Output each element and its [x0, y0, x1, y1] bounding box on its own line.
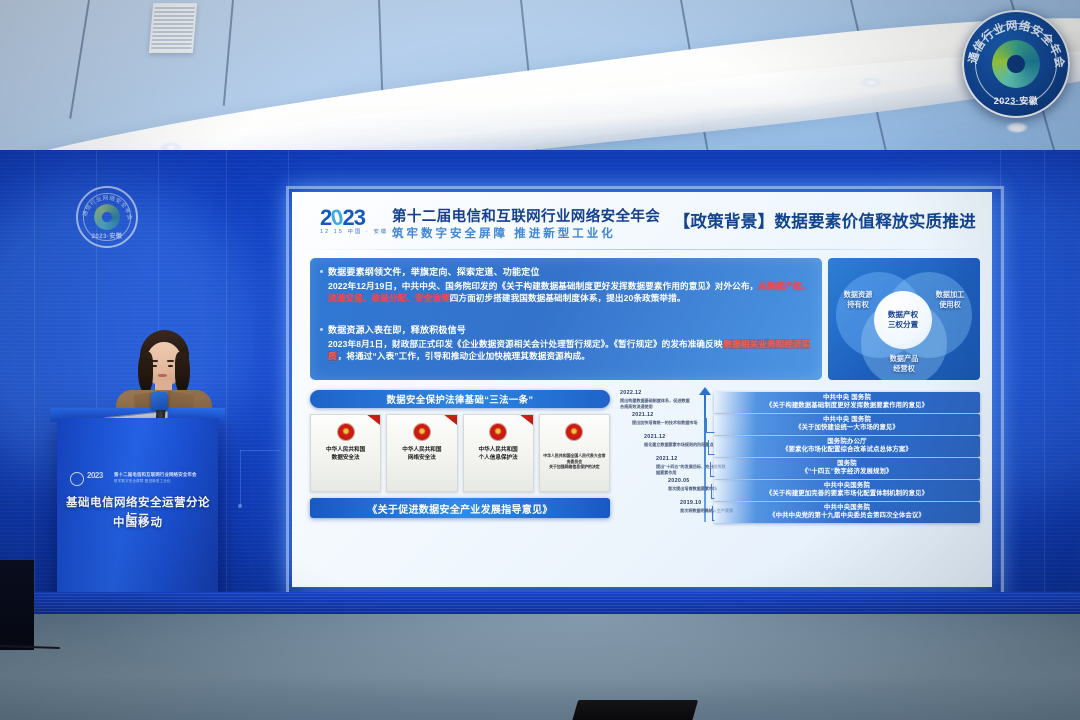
timeline-row: 2019.10 首次将数据明确纳入生产要素 中共中央国务院 《中共中央党的第十九… — [618, 502, 980, 523]
timeline-row: 2021.12 细化建立数据要素市场规则的阶段重点 国务院办公厅 《要素化市场化… — [618, 436, 980, 457]
timeline-document: 《关于加快建设统一大市场的意见》 — [795, 424, 899, 432]
law-book-item: 中华人民共和国全国人民代表大会常务委员会关于加强网络信息保护的决定 — [539, 414, 610, 492]
svg-text:通信行业网络安全年会: 通信行业网络安全年会 — [966, 18, 1067, 69]
timeline-policy-box: 中共中央国务院 《中共中央党的第十九届中央委员会第四次全体会议》 — [714, 502, 980, 523]
timeline-document: 《要素化市场化配置综合改革试点总体方案》 — [782, 446, 912, 454]
venn-center: 数据产权 三权分置 — [874, 291, 932, 349]
law-book-item: 中华人民共和国数据安全法 — [310, 414, 381, 492]
law-book-title: 中华人民共和国网络安全法 — [399, 447, 444, 462]
logo-arc-label: 通信行业网络安全年会 — [80, 194, 134, 221]
venn-label-right: 数据加工使用权 — [926, 290, 974, 309]
national-emblem-icon — [566, 424, 582, 440]
bullet-body: 2023年8月1日，财政部正式印发《企业数据资源相关会计处理暂行规定》。《暂行规… — [320, 338, 812, 363]
timeline-policy-box: 中共中央 国务院 《关于加快建设统一大市场的意见》 — [714, 414, 980, 435]
bullet-body-pre: 2022年12月19日，中共中央、国务院印发的《关于构建数据基础制度更好发挥数据… — [328, 281, 758, 291]
svg-text:通信行业网络安全年会: 通信行业网络安全年会 — [80, 194, 134, 221]
conference-logo-wall: 通信行业网络安全年会 2023·安徽 — [76, 186, 138, 248]
presentation-slide: 2023 12 15 中国 · 安徽 第十二届电信和互联网行业网络安全年会 筑牢… — [292, 192, 992, 587]
podium-logo-icon — [70, 472, 84, 486]
venn-label-bottom: 数据产品经营权 — [880, 354, 928, 373]
timeline-policy-box: 国务院办公厅 《要素化市场化配置综合改革试点总体方案》 — [714, 436, 980, 457]
slide-event-tagline: 筑牢数字安全屏障 推进新型工业化 — [392, 225, 616, 241]
timeline-description: 提出构建数据基础制度体系，促进数据合规高效流通使用 — [620, 398, 692, 409]
timeline-row: 2020.05 首次提出培育数据要素市场 中共中央国务院 《关于构建更加完善的要… — [618, 480, 980, 501]
timeline-document: 《关于构建数据基础制度更好发挥数据要素作用的意见》 — [766, 402, 928, 410]
bullet-dot-icon — [320, 270, 323, 273]
bullet-dot-icon — [320, 328, 323, 331]
law-book-list: 中华人民共和国数据安全法 中华人民共和国网络安全法 中华人民共和国个人信息保护法… — [310, 414, 610, 492]
hvac-vent-icon — [149, 3, 197, 53]
national-emblem-icon — [414, 424, 430, 440]
backstage-shadow — [0, 560, 34, 650]
slide-header: 2023 12 15 中国 · 安徽 第十二届电信和互联网行业网络安全年会 筑牢… — [292, 192, 992, 250]
header-divider — [292, 249, 992, 250]
speaker-hair-side — [138, 352, 153, 394]
slide-year-sublabel: 12 15 中国 · 安徽 — [320, 228, 388, 235]
law-guideline-banner: 《关于促进数据安全产业发展指导意见》 — [310, 498, 610, 518]
downlight-icon — [1006, 122, 1028, 133]
venn-center-line1: 数据产权 — [888, 310, 918, 320]
law-section-title: 数据安全保护法律基础“三法一条” — [386, 392, 533, 406]
bullet-body: 2022年12月19日，中共中央、国务院印发的《关于构建数据基础制度更好发挥数据… — [320, 280, 812, 305]
law-guideline-title: 《关于促进数据安全产业发展指导意见》 — [367, 501, 552, 516]
conference-logo-watermark: 通信行业网络安全年会 2023·安徽 — [962, 10, 1070, 118]
timeline-policy-box: 中共中央 国务院 《关于构建数据基础制度更好发挥数据要素作用的意见》 — [714, 392, 980, 413]
venn-label-left: 数据资源持有权 — [834, 290, 882, 309]
timeline-description: 细化建立数据要素市场规则的阶段重点 — [644, 442, 716, 448]
law-book-title: 中华人民共和国数据安全法 — [323, 447, 368, 462]
stage-floor-sheen — [0, 614, 1080, 720]
podium-event-title: 第十二届电信和互联网行业网络安全年会 — [114, 472, 197, 478]
bullet-body-post: ，将通过“入表”工作，引导和推动企业加快梳理其数据资源构成。 — [338, 351, 590, 361]
podium-event-tagline: 筑牢数字安全屏障 推进新型工业化 — [114, 479, 171, 484]
podium-signage: 2023 第十二届电信和互联网行业网络安全年会 筑牢数字安全屏障 推进新型工业化… — [62, 470, 214, 534]
timeline-date: 2021.12 — [656, 456, 678, 462]
timeline-policy-box: 国务院 《“十四五”数字经济发展规划》 — [714, 458, 980, 479]
timeline-document: 《关于构建更加完善的要素市场化配置体制机制的意见》 — [766, 490, 928, 498]
bullet-item: 数据资源入表在即，释放积极信号 2023年8月1日，财政部正式印发《企业数据资源… — [320, 324, 812, 363]
venn-diagram: 数据资源持有权 数据加工使用权 数据产品经营权 数据产权 三权分置 — [828, 258, 980, 380]
timeline-date: 2020.05 — [668, 478, 690, 484]
timeline-description: 提出加快培育统一的技术和数据市场 — [632, 420, 704, 426]
bullet-body-post: 四方面初步搭建我国数据基础制度体系，提出20条政策举措。 — [450, 293, 686, 303]
timeline-date: 2021.12 — [644, 434, 666, 440]
venn-center-line2: 三权分置 — [888, 320, 918, 330]
microphone-icon — [151, 392, 168, 410]
ceiling-seam — [223, 0, 234, 106]
timeline-date: 2021.12 — [632, 412, 654, 418]
timeline-date: 2022.12 — [620, 390, 642, 396]
timeline-policy-box: 中共中央国务院 《关于构建更加完善的要素市场化配置体制机制的意见》 — [714, 480, 980, 501]
timeline-row: 2021.12 提出加快培育统一的技术和数据市场 中共中央 国务院 《关于加快建… — [618, 414, 980, 435]
logo-year-label: 2023·安徽 — [962, 94, 1070, 107]
downlight-icon — [860, 77, 882, 88]
podium-organization: 中国移动 — [62, 514, 214, 530]
speaker-mouth — [158, 374, 167, 377]
logo-year-label: 2023·安徽 — [76, 231, 138, 240]
timeline-row: 2022.12 提出构建数据基础制度体系，促进数据合规高效流通使用 中共中央 国… — [618, 392, 980, 413]
law-book-title: 中华人民共和国全国人民代表大会常务委员会关于加强网络信息保护的决定 — [540, 453, 609, 470]
national-emblem-icon — [338, 424, 354, 440]
bullet-heading: 数据要素纲领文件，举旗定向、探索定道、功能定位 — [320, 266, 812, 279]
conference-photo: 通信行业网络安全年会 2023·安徽 2023 12 15 中国 · 安徽 第十… — [0, 0, 1080, 720]
bullet-body-pre: 2023年8月1日，财政部正式印发《企业数据资源相关会计处理暂行规定》。《暂行规… — [328, 339, 723, 349]
law-book-item: 中华人民共和国网络安全法 — [386, 414, 457, 492]
book-ribbon-icon — [428, 414, 458, 431]
timeline-document: 《中共中央党的第十九届中央委员会第四次全体会议》 — [769, 512, 925, 520]
law-book-title: 中华人民共和国个人信息保护法 — [476, 447, 521, 462]
speaker-eyebrow — [167, 360, 174, 362]
speaker-eye — [168, 365, 173, 367]
ceiling-seam — [69, 0, 89, 119]
logo-arc-label: 通信行业网络安全年会 — [966, 18, 1067, 69]
national-emblem-icon — [490, 424, 506, 440]
stage-monitor — [572, 700, 698, 720]
book-ribbon-icon — [352, 414, 382, 431]
book-ribbon-icon — [504, 414, 534, 431]
slide-event-title: 第十二届电信和互联网行业网络安全年会 — [392, 205, 660, 226]
slide-page-title: 【政策背景】数据要素价值释放实质推进 — [674, 208, 976, 232]
timeline-date: 2019.10 — [680, 500, 702, 506]
policy-timeline: 2022.12 提出构建数据基础制度体系，促进数据合规高效流通使用 中共中央 国… — [618, 388, 980, 524]
law-book-item: 中华人民共和国个人信息保护法 — [463, 414, 534, 492]
timeline-row: 2021.12 提出“十四五”的发展目标、充分发挥数据要素作用 国务院 《“十四… — [618, 458, 980, 479]
law-section-title-bar: 数据安全保护法律基础“三法一条” — [310, 390, 610, 408]
podium-year-label: 2023 — [87, 471, 103, 480]
policy-text-panel: 数据要素纲领文件，举旗定向、探索定道、功能定位 2022年12月19日，中共中央… — [310, 258, 822, 380]
bullet-item: 数据要素纲领文件，举旗定向、探索定道、功能定位 2022年12月19日，中共中央… — [320, 266, 812, 305]
timeline-document: 《“十四五”数字经济发展规划》 — [802, 468, 893, 476]
bullet-heading: 数据资源入表在即，释放积极信号 — [320, 324, 812, 337]
